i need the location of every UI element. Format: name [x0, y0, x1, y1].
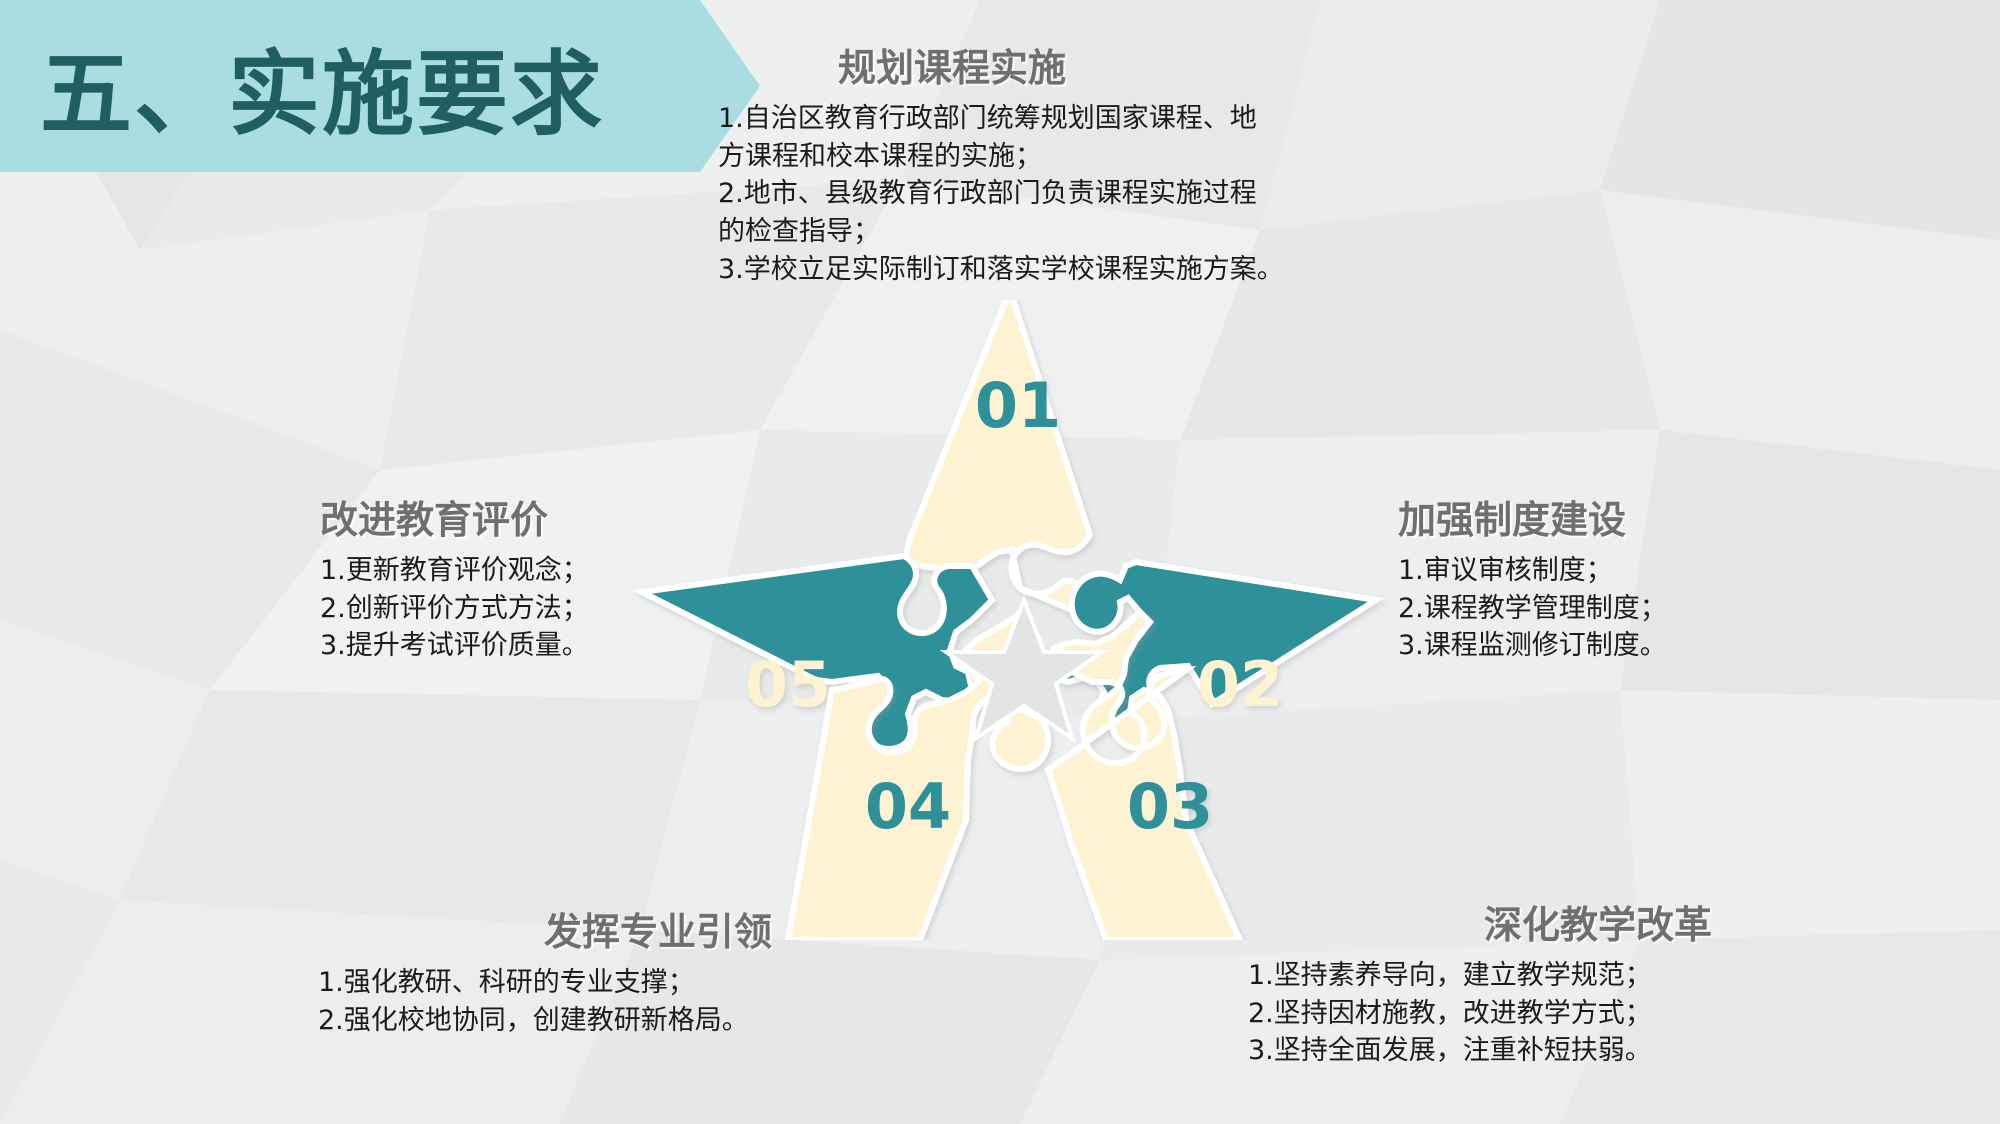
- info-line: 1.审议审核制度；: [1398, 552, 1958, 590]
- puzzle-number-02: 02: [1197, 648, 1283, 721]
- info-line: 方课程和校本课程的实施；: [718, 138, 1358, 176]
- info-line: 2.强化校地协同，创建教研新格局。: [318, 1002, 998, 1040]
- info-line: 2.坚持因材施教，改进教学方式；: [1248, 995, 1948, 1033]
- info-block-01: 规划课程实施 1.自治区教育行政部门统筹规划国家课程、地 方课程和校本课程的实施…: [718, 48, 1358, 289]
- puzzle-number-04: 04: [865, 770, 951, 843]
- puzzle-number-05: 05: [745, 648, 831, 721]
- info-line: 2.课程教学管理制度；: [1398, 590, 1958, 628]
- info-block-01-body: 1.自治区教育行政部门统筹规划国家课程、地 方课程和校本课程的实施； 2.地市、…: [718, 100, 1358, 289]
- info-block-05: 改进教育评价 1.更新教育评价观念； 2.创新评价方式方法； 3.提升考试评价质…: [320, 500, 740, 665]
- info-line: 3.提升考试评价质量。: [320, 627, 740, 665]
- puzzle-number-01: 01: [975, 369, 1061, 442]
- puzzle-number-03: 03: [1127, 770, 1213, 843]
- info-line: 2.地市、县级教育行政部门负责课程实施过程: [718, 175, 1358, 213]
- info-block-03: 深化教学改革 1.坚持素养导向，建立教学规范； 2.坚持因材施教，改进教学方式；…: [1248, 905, 1948, 1070]
- page-title: 五、实施要求: [40, 16, 680, 156]
- info-line: 2.创新评价方式方法；: [320, 590, 740, 628]
- info-block-02: 加强制度建设 1.审议审核制度； 2.课程教学管理制度； 3.课程监测修订制度。: [1398, 500, 1958, 665]
- slide-canvas: 五、实施要求 01 05 02: [0, 0, 2000, 1124]
- info-block-05-body: 1.更新教育评价观念； 2.创新评价方式方法； 3.提升考试评价质量。: [320, 552, 740, 665]
- info-block-04-title: 发挥专业引领: [318, 912, 998, 954]
- info-line: 1.更新教育评价观念；: [320, 552, 740, 590]
- info-line: 1.自治区教育行政部门统筹规划国家课程、地: [718, 100, 1358, 138]
- info-line: 的检查指导；: [718, 213, 1358, 251]
- info-block-04: 发挥专业引领 1.强化教研、科研的专业支撑； 2.强化校地协同，创建教研新格局。: [318, 912, 998, 1039]
- slide-title-banner: 五、实施要求: [0, 0, 760, 172]
- info-line: 1.强化教研、科研的专业支撑；: [318, 964, 998, 1002]
- info-line: 3.课程监测修订制度。: [1398, 627, 1958, 665]
- info-block-05-title: 改进教育评价: [320, 500, 740, 542]
- puzzle-piece-01[interactable]: 01: [905, 300, 1090, 618]
- info-line: 3.坚持全面发展，注重补短扶弱。: [1248, 1032, 1948, 1070]
- info-block-01-title: 规划课程实施: [838, 48, 1358, 90]
- info-line: 1.坚持素养导向，建立教学规范；: [1248, 957, 1948, 995]
- info-block-03-body: 1.坚持素养导向，建立教学规范； 2.坚持因材施教，改进教学方式； 3.坚持全面…: [1248, 957, 1948, 1070]
- info-block-02-body: 1.审议审核制度； 2.课程教学管理制度； 3.课程监测修订制度。: [1398, 552, 1958, 665]
- info-line: 3.学校立足实际制订和落实学校课程实施方案。: [718, 251, 1358, 289]
- info-block-03-title: 深化教学改革: [1248, 905, 1948, 947]
- info-block-02-title: 加强制度建设: [1398, 500, 1958, 542]
- info-block-04-body: 1.强化教研、科研的专业支撑； 2.强化校地协同，创建教研新格局。: [318, 964, 998, 1040]
